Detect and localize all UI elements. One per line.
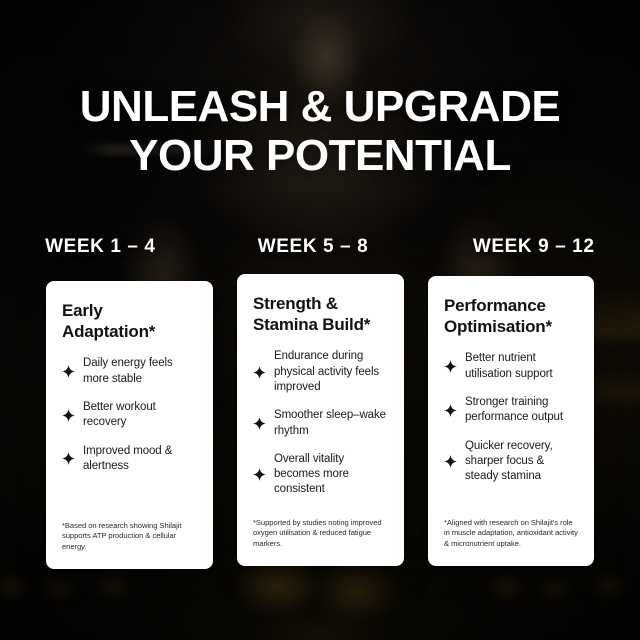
bullet-label: Overall vitality becomes more consistent — [274, 452, 388, 498]
bullet-label: Stronger training performance output — [465, 395, 578, 426]
sparkle-icon — [444, 404, 457, 417]
phase-card-1: Early Adaptation* Daily energy feels mor… — [46, 281, 213, 569]
week-column-1: WEEK 1 – 4 — [0, 236, 207, 258]
sparkle-icon — [444, 455, 457, 468]
bullet-label: Smoother sleep–wake rhythm — [274, 408, 388, 439]
phase-card-3-footnote: *Aligned with research on Shilajit's rol… — [444, 518, 578, 550]
phase-card-2-bullet-list: Endurance during physical activity feels… — [253, 349, 388, 497]
phase-card-1-footnote: *Based on research showing Shilajit supp… — [62, 521, 197, 553]
list-item: Endurance during physical activity feels… — [253, 349, 388, 395]
week-column-3: WEEK 9 – 12 — [427, 236, 640, 258]
list-item: Quicker recovery, sharper focus & steady… — [444, 439, 578, 485]
list-item: Stronger training performance output — [444, 395, 578, 426]
headline-line-1: UNLEASH & UPGRADE — [80, 82, 560, 131]
page-title: UNLEASH & UPGRADE YOUR POTENTIAL — [0, 82, 640, 181]
bullet-label: Better workout recovery — [83, 400, 197, 431]
sparkle-icon — [62, 452, 75, 465]
phase-card-row: Early Adaptation* Daily energy feels mor… — [46, 274, 594, 569]
phase-card-3-bullet-list: Better nutrient utilisation support Stro… — [444, 351, 578, 484]
phase-card-2-title: Strength & Stamina Build* — [253, 294, 388, 335]
week-label-phase-3: WEEK 9 – 12 — [473, 236, 595, 258]
bullet-label: Daily energy feels more stable — [83, 356, 197, 387]
sparkle-icon — [253, 468, 266, 481]
list-item: Overall vitality becomes more consistent — [253, 452, 388, 498]
phase-card-2: Strength & Stamina Build* Endurance duri… — [237, 274, 404, 566]
promo-graphic: UNLEASH & UPGRADE YOUR POTENTIAL WEEK 1 … — [0, 0, 640, 640]
headline-line-2: YOUR POTENTIAL — [0, 131, 640, 180]
week-column-2: WEEK 5 – 8 — [207, 236, 420, 258]
phase-card-2-footnote: *Supported by studies noting improved ox… — [253, 518, 388, 550]
list-item: Improved mood & alertness — [62, 444, 197, 475]
sparkle-icon — [444, 360, 457, 373]
week-label-phase-2: WEEK 5 – 8 — [258, 236, 369, 258]
phase-card-1-title: Early Adaptation* — [62, 301, 197, 342]
sparkle-icon — [253, 417, 266, 430]
list-item: Daily energy feels more stable — [62, 356, 197, 387]
list-item: Better nutrient utilisation support — [444, 351, 578, 382]
bullet-label: Quicker recovery, sharper focus & steady… — [465, 439, 578, 485]
sparkle-icon — [253, 366, 266, 379]
phase-card-3: Performance Optimisation* Better nutrien… — [428, 276, 594, 566]
bullet-label: Better nutrient utilisation support — [465, 351, 578, 382]
bullet-label: Improved mood & alertness — [83, 444, 197, 475]
sparkle-icon — [62, 365, 75, 378]
content-layer: UNLEASH & UPGRADE YOUR POTENTIAL WEEK 1 … — [0, 0, 640, 640]
list-item: Better workout recovery — [62, 400, 197, 431]
phase-card-3-title: Performance Optimisation* — [444, 296, 578, 337]
week-label-phase-1: WEEK 1 – 4 — [45, 236, 156, 258]
list-item: Smoother sleep–wake rhythm — [253, 408, 388, 439]
phase-card-1-bullet-list: Daily energy feels more stable Better wo… — [62, 356, 197, 474]
week-label-row: WEEK 1 – 4 WEEK 5 – 8 WEEK 9 – 12 — [0, 236, 640, 258]
sparkle-icon — [62, 409, 75, 422]
bullet-label: Endurance during physical activity feels… — [274, 349, 388, 395]
